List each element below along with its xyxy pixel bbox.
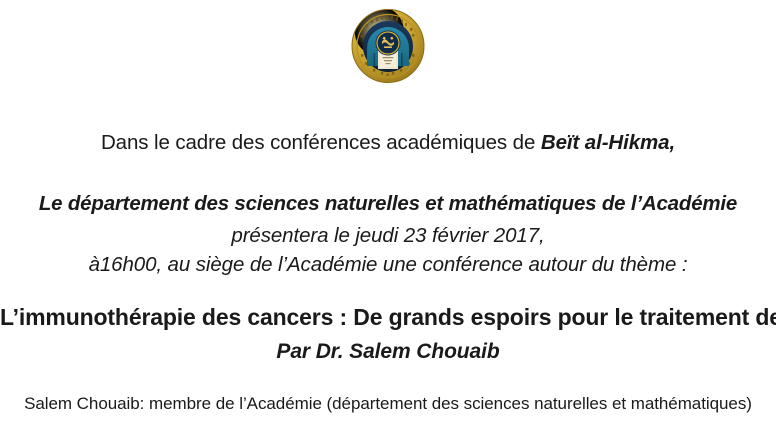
intro-line-prefix: Dans le cadre des conférences académique… xyxy=(101,131,541,154)
beit-al-hikma-academy-seal-icon xyxy=(351,8,425,84)
speaker-name: Par Dr. Salem Chouaib xyxy=(0,340,776,364)
emblem-container xyxy=(0,8,776,84)
intro-line: Dans le cadre des conférences académique… xyxy=(0,131,776,155)
time-venue-line: à16h00, au siège de l’Académie une confé… xyxy=(0,253,776,277)
conference-title: L’immunothérapie des cancers : De grands… xyxy=(0,304,776,331)
institution-name: Beït al-Hikma, xyxy=(541,131,675,154)
date-line: présentera le jeudi 23 février 2017, xyxy=(0,224,776,248)
department-line: Le département des sciences naturelles e… xyxy=(0,192,776,216)
speaker-affiliation-footer: Salem Chouaib: membre de l’Académie (dép… xyxy=(0,394,776,414)
conference-announcement-slide: Dans le cadre des conférences académique… xyxy=(0,0,776,433)
